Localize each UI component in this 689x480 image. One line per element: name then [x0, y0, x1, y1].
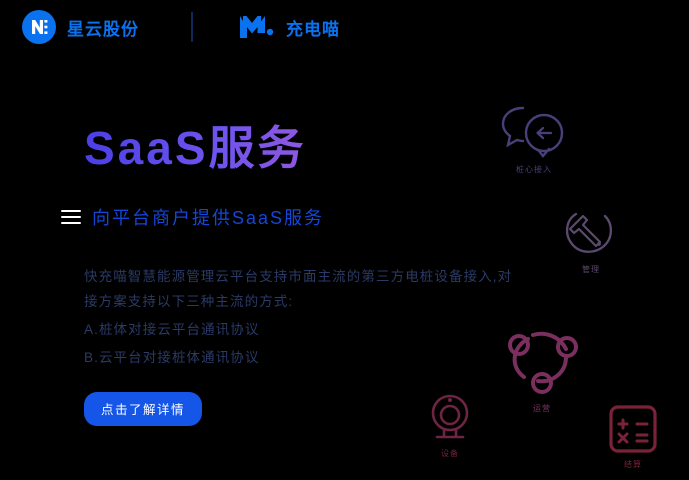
- feature-label: 桩心接入: [499, 164, 569, 175]
- chat-bubbles-access-icon: [499, 104, 569, 160]
- brand-primary[interactable]: 星云股份: [22, 10, 139, 44]
- feature-device: 设备: [424, 390, 476, 459]
- nebula-monogram-icon: [22, 10, 56, 44]
- feature-access: 桩心接入: [499, 104, 569, 175]
- feature-label: 运营: [500, 403, 584, 414]
- feature-label: 管理: [562, 264, 620, 275]
- body-line: 接方案支持以下三种主流的方式:: [84, 289, 604, 314]
- feature-label: 设备: [424, 448, 476, 459]
- hamburger-menu-icon: [61, 210, 81, 224]
- brand-secondary-name: 充电喵: [286, 15, 340, 40]
- page-header: 星云股份 充电喵: [0, 0, 689, 54]
- brand-primary-name: 星云股份: [67, 15, 139, 40]
- header-divider: [191, 12, 193, 42]
- hero-subtitle: 向平台商户提供SaaS服务: [92, 204, 324, 230]
- learn-more-button[interactable]: 点击了解详情: [84, 392, 202, 426]
- network-share-icon: [500, 325, 584, 399]
- wrench-manage-icon: [562, 208, 620, 260]
- feature-label: 结算: [607, 459, 659, 470]
- feature-billing: 结算: [607, 403, 659, 470]
- hero-subtitle-row: 向平台商户提供SaaS服务: [61, 204, 604, 230]
- calculator-billing-icon: [607, 403, 659, 455]
- cat-face-icon: [239, 14, 279, 40]
- feature-share: 运营: [500, 325, 584, 414]
- body-line: 快充喵智慧能源管理云平台支持市面主流的第三方电桩设备接入,对: [84, 264, 604, 289]
- device-monitor-icon: [424, 390, 476, 444]
- feature-manage: 管理: [562, 208, 620, 275]
- brand-secondary[interactable]: 充电喵: [239, 14, 340, 40]
